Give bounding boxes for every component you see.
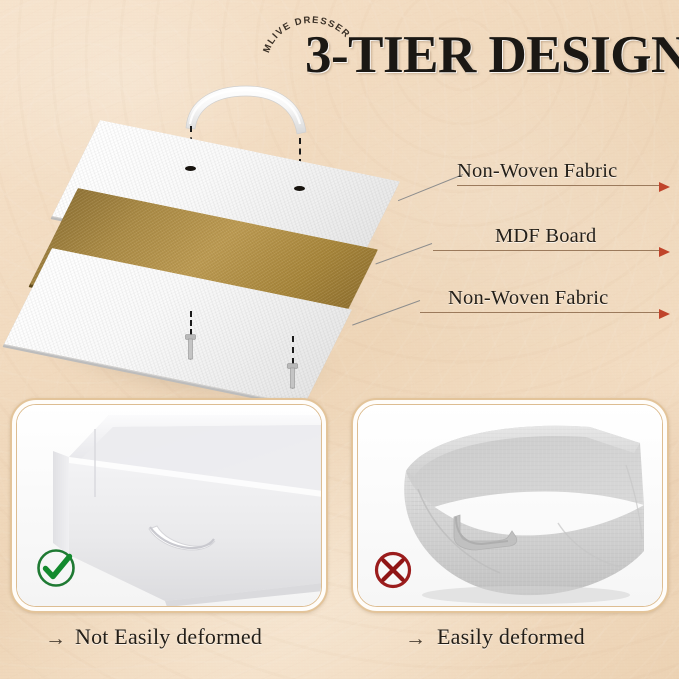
exploded-layer-diagram bbox=[0, 78, 470, 390]
callout-mdf-board: MDF Board bbox=[433, 215, 675, 261]
infographic-canvas: MLIVE DRESSER 3-TIER DESIGN bbox=[0, 0, 679, 679]
callout-bottom-fabric: Non-Woven Fabric bbox=[420, 277, 675, 323]
screw-hole-1 bbox=[185, 166, 196, 171]
layer-bottom-fabric bbox=[52, 248, 352, 344]
panel-frame-inner-good bbox=[16, 404, 322, 607]
cross-badge-icon bbox=[370, 547, 416, 593]
caption-arrow-good: → bbox=[45, 626, 66, 651]
callout-label-mdf-board: MDF Board bbox=[495, 225, 596, 248]
page-title: 3-TIER DESIGN bbox=[305, 24, 677, 86]
caption-arrow-bad: → bbox=[405, 626, 426, 651]
caption-good: Not Easily deformed bbox=[75, 624, 262, 650]
check-badge-icon bbox=[33, 545, 79, 591]
comparison-panel-bad bbox=[351, 398, 669, 613]
assembly-guide-dash-3 bbox=[190, 311, 192, 335]
callout-top-fabric: Non-Woven Fabric bbox=[457, 150, 675, 196]
screw-1 bbox=[185, 334, 196, 360]
assembly-guide-dash-4 bbox=[292, 336, 294, 364]
caption-bad: Easily deformed bbox=[437, 624, 585, 650]
screw-2 bbox=[287, 363, 298, 389]
comparison-panel-good bbox=[10, 398, 328, 613]
callout-label-top-fabric: Non-Woven Fabric bbox=[457, 160, 617, 183]
panel-frame-inner-bad bbox=[357, 404, 663, 607]
callout-label-bottom-fabric: Non-Woven Fabric bbox=[448, 287, 608, 310]
